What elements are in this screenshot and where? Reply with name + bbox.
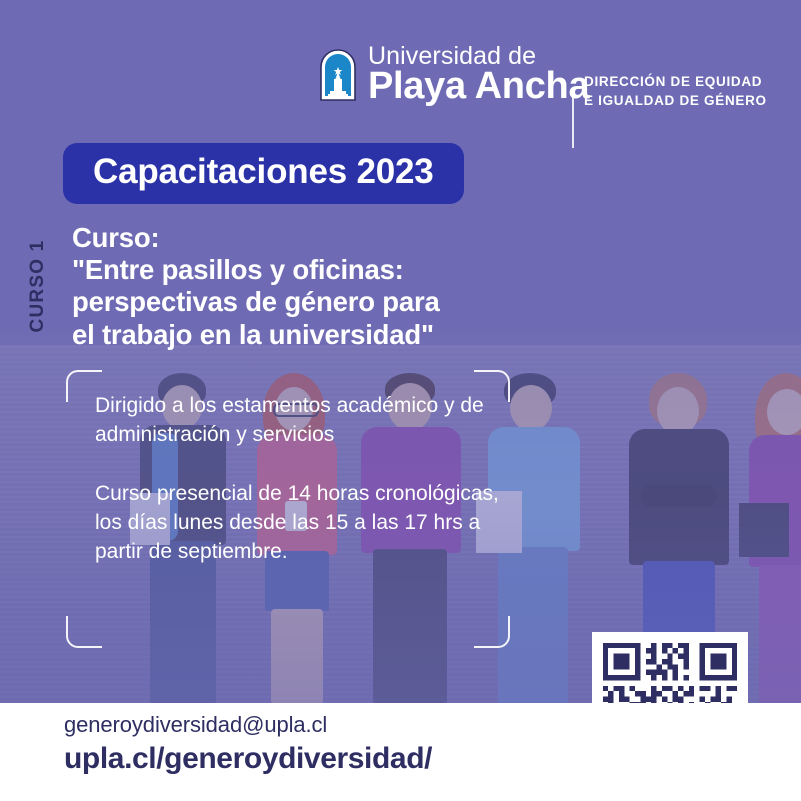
course-details: Dirigido a los estamentos académico y de…	[95, 392, 515, 567]
course-title: Curso: "Entre pasillos y oficinas: persp…	[72, 222, 542, 351]
course-schedule-text: Curso presencial de 14 horas cronológica…	[95, 480, 515, 567]
poster-canvas: Universidad de Playa Ancha DIRECCIÓN DE …	[0, 0, 801, 801]
course-title-line1: Curso:	[72, 222, 542, 254]
course-title-line2: "Entre pasillos y oficinas:	[72, 254, 542, 286]
campaign-banner-label: Capacitaciones 2023	[93, 152, 434, 191]
contact-email[interactable]: generoydiversidad@upla.cl	[64, 712, 327, 738]
university-logo: Universidad de Playa Ancha	[318, 44, 589, 105]
department-name: DIRECCIÓN DE EQUIDAD E IGUALDAD DE GÉNER…	[584, 72, 767, 110]
header-divider	[572, 92, 574, 148]
course-title-line3: perspectivas de género para	[72, 286, 542, 318]
course-number-label: CURSO 1	[27, 226, 49, 346]
bracket-corner-bottom-left	[66, 616, 102, 648]
course-audience-text: Dirigido a los estamentos académico y de…	[95, 392, 515, 450]
campaign-banner: Capacitaciones 2023	[63, 143, 464, 204]
lighthouse-shield-emblem-icon	[318, 47, 358, 103]
department-line2: E IGUALDAD DE GÉNERO	[584, 91, 767, 110]
contact-website[interactable]: upla.cl/generoydiversidad/	[64, 742, 432, 776]
course-title-line4: el trabajo en la universidad"	[72, 319, 542, 351]
department-line1: DIRECCIÓN DE EQUIDAD	[584, 72, 767, 91]
university-name-line2: Playa Ancha	[368, 67, 589, 105]
bracket-corner-bottom-right	[474, 616, 510, 648]
